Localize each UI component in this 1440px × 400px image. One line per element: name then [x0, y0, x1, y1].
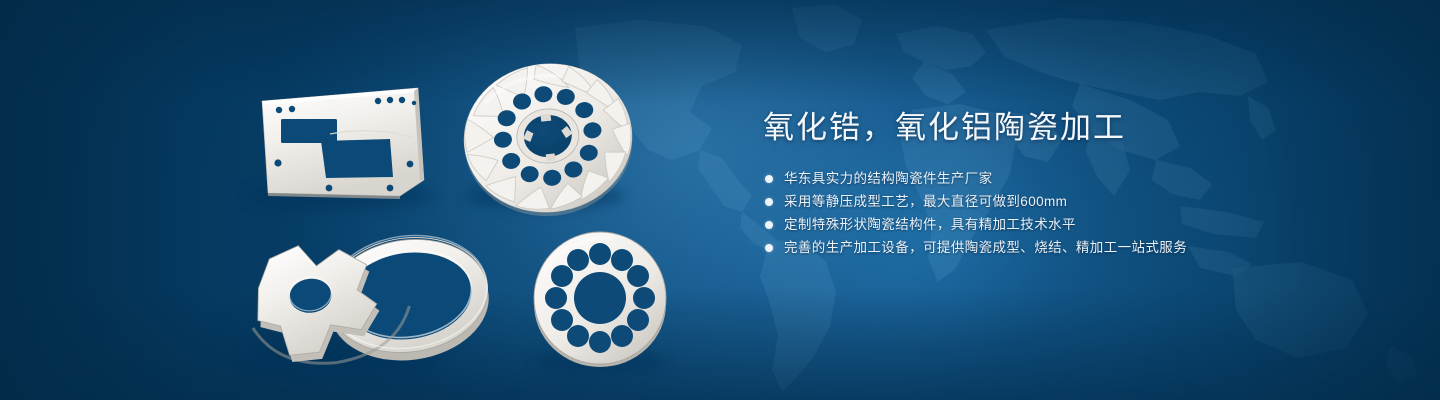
banner-copy: 氧化锆，氧化铝陶瓷加工 华东具实力的结构陶瓷件生产厂家 采用等静压成型工艺，最大…	[763, 108, 1403, 259]
hero-banner: 氧化锆，氧化铝陶瓷加工 华东具实力的结构陶瓷件生产厂家 采用等静压成型工艺，最大…	[0, 0, 1440, 400]
page-title: 氧化锆，氧化铝陶瓷加工	[763, 108, 1403, 148]
bullet-dot-icon	[765, 221, 773, 229]
ceramic-products-image	[0, 0, 720, 400]
feature-list: 华东具实力的结构陶瓷件生产厂家 采用等静压成型工艺，最大直径可做到600mm 定…	[763, 167, 1403, 259]
list-item: 采用等静压成型工艺，最大直径可做到600mm	[765, 190, 1403, 213]
bullet-dot-icon	[765, 175, 773, 183]
ceramic-machined-plate	[262, 88, 424, 199]
bullet-dot-icon	[765, 198, 773, 206]
list-item: 完善的生产加工设备，可提供陶瓷成型、烧结、精加工一站式服务	[765, 236, 1403, 259]
list-item: 华东具实力的结构陶瓷件生产厂家	[765, 167, 1403, 190]
list-item-label: 华东具实力的结构陶瓷件生产厂家	[784, 167, 993, 190]
list-item-label: 采用等静压成型工艺，最大直径可做到600mm	[784, 190, 1067, 213]
list-item: 定制特殊形状陶瓷结构件，具有精加工技术水平	[765, 213, 1403, 236]
list-item-label: 完善的生产加工设备，可提供陶瓷成型、烧结、精加工一站式服务	[784, 236, 1187, 259]
ceramic-perforated-disc	[534, 232, 666, 367]
list-item-label: 定制特殊形状陶瓷结构件，具有精加工技术水平	[784, 213, 1076, 236]
bullet-dot-icon	[765, 244, 773, 252]
